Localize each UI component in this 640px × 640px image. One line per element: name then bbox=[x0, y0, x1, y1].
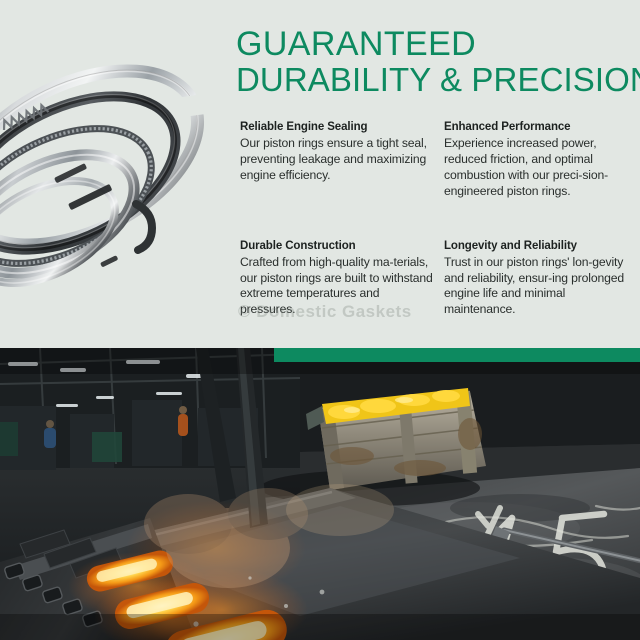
feature-row-2: Durable Construction Crafted from high-q… bbox=[240, 239, 630, 319]
feature-body: Crafted from high-quality ma-terials, ou… bbox=[240, 255, 436, 319]
feature-item-longevity-and-reliability: Longevity and Reliability Trust in our p… bbox=[444, 239, 630, 319]
feature-body: Trust in our piston rings' lon-gevity an… bbox=[444, 255, 630, 319]
factory-photo bbox=[0, 348, 640, 640]
piston-rings-photo bbox=[0, 8, 232, 338]
feature-body: Experience increased power, reduced fric… bbox=[444, 136, 630, 200]
feature-item-durable-construction: Durable Construction Crafted from high-q… bbox=[240, 239, 436, 319]
infographic-page: GUARANTEED DURABILITY & PRECISION Reliab… bbox=[0, 0, 640, 640]
feature-item-enhanced-performance: Enhanced Performance Experience increase… bbox=[444, 120, 630, 200]
feature-title: Durable Construction bbox=[240, 239, 436, 254]
headline-line-2: DURABILITY & PRECISION bbox=[236, 62, 632, 98]
feature-title: Enhanced Performance bbox=[444, 120, 630, 135]
feature-body: Our piston rings ensure a tight seal, pr… bbox=[240, 136, 436, 184]
feature-row-1: Reliable Engine Sealing Our piston rings… bbox=[240, 120, 630, 200]
feature-item-reliable-engine-sealing: Reliable Engine Sealing Our piston rings… bbox=[240, 120, 436, 200]
green-accent-bar bbox=[274, 348, 640, 362]
top-content-panel: GUARANTEED DURABILITY & PRECISION Reliab… bbox=[0, 0, 640, 348]
feature-title: Reliable Engine Sealing bbox=[240, 120, 436, 135]
headline-line-1: GUARANTEED bbox=[236, 26, 632, 62]
feature-title: Longevity and Reliability bbox=[444, 239, 630, 254]
feature-grid: Reliable Engine Sealing Our piston rings… bbox=[240, 120, 630, 318]
headline: GUARANTEED DURABILITY & PRECISION bbox=[236, 26, 632, 98]
